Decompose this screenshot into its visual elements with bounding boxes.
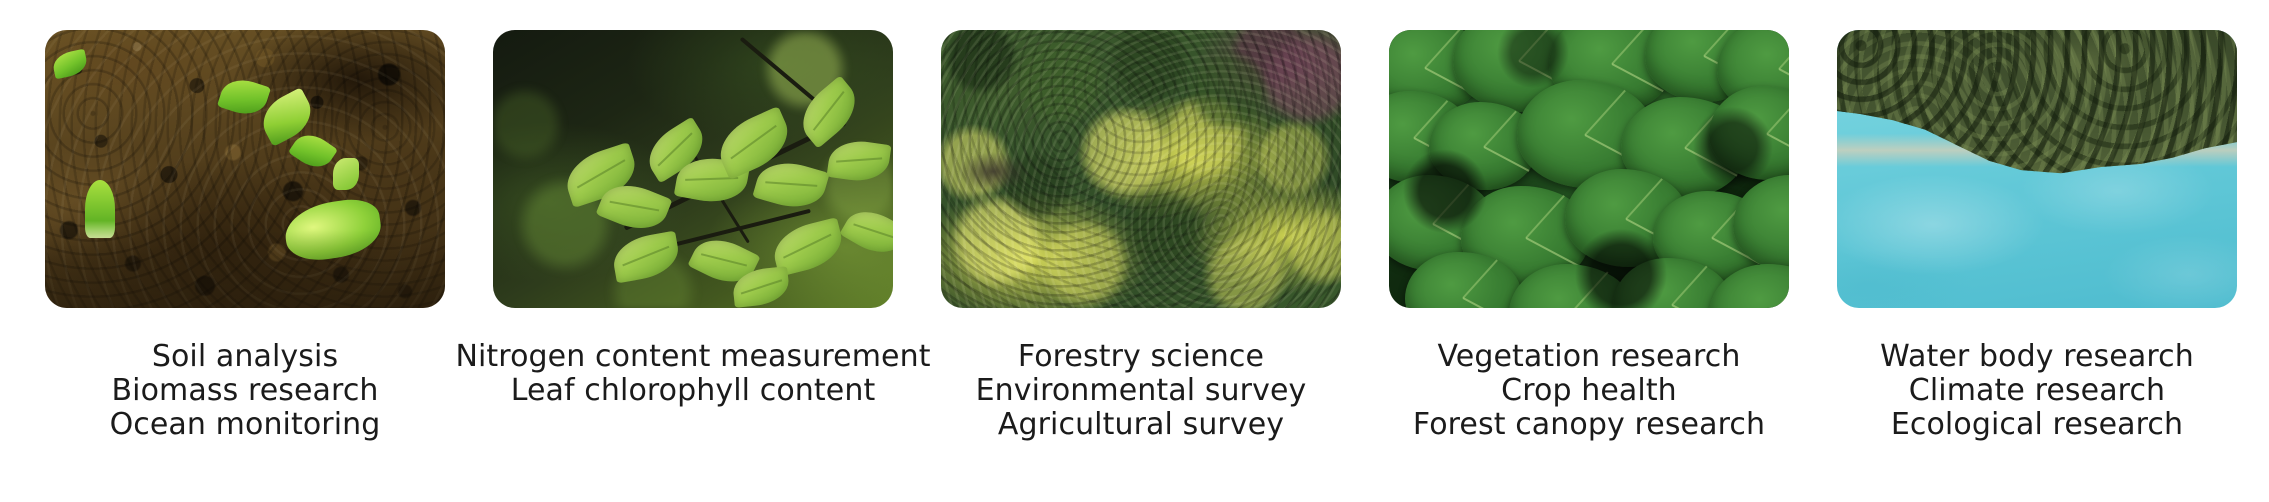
research-application-gallery: Soil analysis Biomass research Ocean mon… [0, 0, 2269, 502]
beech-leaves-photo [493, 30, 893, 308]
soil-depth-blur [45, 30, 445, 308]
gallery-card-forestry-science: Forestry science Environmental survey Ag… [941, 30, 1341, 442]
caption-line: Biomass research [110, 374, 381, 408]
leaves-shadow-layer [1389, 30, 1789, 308]
lake-shoreline-aerial-photo [1837, 30, 2237, 308]
caption-line: Vegetation research [1413, 340, 1765, 374]
caption-line: Forestry science [976, 340, 1307, 374]
card-caption: Soil analysis Biomass research Ocean mon… [110, 340, 381, 442]
soil-seedlings-photo [45, 30, 445, 308]
caption-line: Crop health [1413, 374, 1765, 408]
canopy-ground-gap [957, 152, 1029, 191]
gallery-card-water-body-research: Water body research Climate research Eco… [1837, 30, 2237, 442]
caption-line: Leaf chlorophyll content [455, 374, 930, 408]
caption-line: Climate research [1880, 374, 2194, 408]
caption-line: Ocean monitoring [110, 408, 381, 442]
card-caption: Water body research Climate research Eco… [1880, 340, 2194, 442]
caption-line: Nitrogen content measurement [455, 340, 930, 374]
caption-line: Ecological research [1880, 408, 2194, 442]
card-caption: Forestry science Environmental survey Ag… [976, 340, 1307, 442]
gallery-card-soil-analysis: Soil analysis Biomass research Ocean mon… [45, 30, 445, 442]
caption-line: Water body research [1880, 340, 2194, 374]
forest-canopy-aerial-photo [941, 30, 1341, 308]
caption-line: Agricultural survey [976, 408, 1307, 442]
gallery-card-vegetation-research: Vegetation research Crop health Forest c… [1389, 30, 1789, 442]
caption-line: Forest canopy research [1413, 408, 1765, 442]
card-caption: Nitrogen content measurement Leaf chloro… [455, 340, 930, 408]
caption-line: Environmental survey [976, 374, 1307, 408]
caption-line: Soil analysis [110, 340, 381, 374]
broad-green-leaves-photo [1389, 30, 1789, 308]
gallery-card-nitrogen-content: Nitrogen content measurement Leaf chloro… [493, 30, 893, 408]
card-caption: Vegetation research Crop health Forest c… [1413, 340, 1765, 442]
